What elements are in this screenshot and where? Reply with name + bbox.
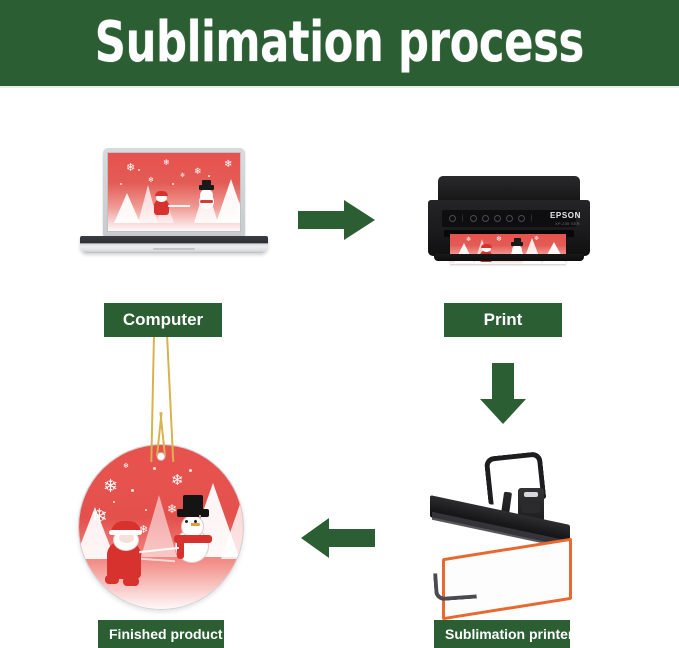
printer-scanner-lid xyxy=(438,176,580,202)
printer-status-icon: │ xyxy=(530,216,534,222)
christmas-artwork-screen: ❄ ❄ ❄ ❄ ❄ ❄ xyxy=(108,153,240,231)
printer-button-1[interactable] xyxy=(470,215,477,222)
arrow-right-icon xyxy=(298,199,376,241)
laptop-trackpad-notch xyxy=(153,248,195,250)
printer-brand-logo: EPSON xyxy=(550,211,581,220)
printer-output-tray xyxy=(434,254,584,261)
arrow-down-icon xyxy=(479,363,527,425)
press-pressure-knob xyxy=(524,492,538,497)
printer-button-4[interactable] xyxy=(506,215,513,222)
arrow-print-to-press xyxy=(479,363,527,425)
header-banner: Sublimation process xyxy=(0,0,679,88)
printer-model-text: XP-235 SER. xyxy=(555,221,581,226)
infographic-page: Sublimation process xyxy=(0,0,679,648)
ornament-disc: ❄ ❄ ❄ ❄ ❄ ❄ xyxy=(78,444,244,610)
printer-power-button[interactable] xyxy=(449,215,456,222)
printer-button-5[interactable] xyxy=(518,215,525,222)
printer-button-3[interactable] xyxy=(494,215,501,222)
page-title: Sublimation process xyxy=(95,13,584,73)
press-base-support xyxy=(433,571,477,602)
printer-indicator-icon: │ xyxy=(461,216,465,222)
label-finished-product: Finished product xyxy=(98,620,224,648)
laptop-screen: ❄ ❄ ❄ ❄ ❄ ❄ xyxy=(107,152,241,232)
printer-button-2[interactable] xyxy=(482,215,489,222)
laptop-image: ❄ ❄ ❄ ❄ ❄ ❄ xyxy=(80,148,268,254)
arrow-press-to-product xyxy=(300,517,376,559)
laptop-base xyxy=(80,236,268,253)
christmas-artwork-ornament: ❄ ❄ ❄ ❄ ❄ ❄ xyxy=(79,445,243,609)
arrow-computer-to-print xyxy=(298,199,376,241)
label-computer: Computer xyxy=(104,303,222,337)
label-print: Print xyxy=(444,303,562,337)
printer-image: │ │ EPSON XP-235 SER. xyxy=(428,176,590,268)
heat-press-image xyxy=(420,448,620,598)
ornament-hole xyxy=(157,452,166,461)
ornament-image: ❄ ❄ ❄ ❄ ❄ ❄ xyxy=(78,412,244,612)
arrow-left-icon xyxy=(300,517,376,559)
press-control-display xyxy=(522,504,540,513)
laptop-lid: ❄ ❄ ❄ ❄ ❄ ❄ xyxy=(103,148,245,236)
label-sublimation-printer: Sublimation printer xyxy=(434,620,570,648)
